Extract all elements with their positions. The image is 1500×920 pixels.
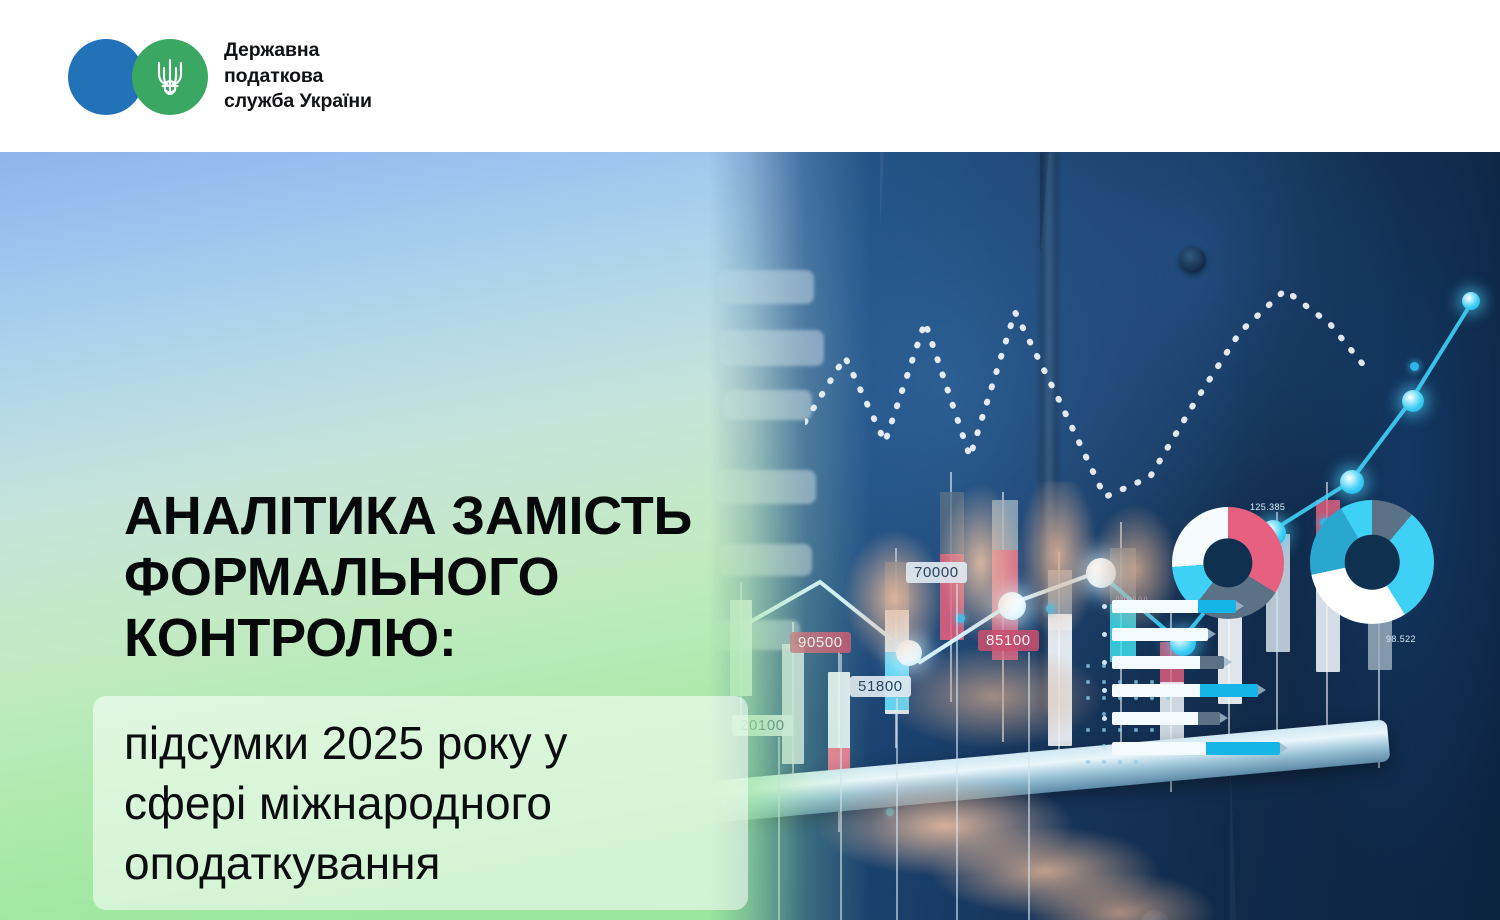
donut-left-label: 125.385 xyxy=(1250,502,1285,512)
page-title: АНАЛІТИКА ЗАМІСТЬ ФОРМАЛЬНОГО КОНТРОЛЮ: xyxy=(124,486,864,669)
hero-section: 0.0.0.0.0.0 4.1.211.40.1 125.385 98.522 … xyxy=(0,152,1500,920)
donut-right-label: 98.522 xyxy=(1386,634,1416,644)
ghost-panel xyxy=(724,390,812,420)
page-subtitle: підсумки 2025 року у сфері міжнародного … xyxy=(124,714,744,893)
value-tag: 51800 xyxy=(850,676,911,697)
bar-row xyxy=(1102,628,1262,641)
slide-root: Державна податкова служба України xyxy=(0,0,1500,920)
photo-hand-lower xyxy=(770,772,1270,920)
chart-node xyxy=(1462,292,1480,310)
bar-row xyxy=(1102,656,1262,669)
chart-dot xyxy=(1410,362,1419,371)
donut-chart-right xyxy=(1310,500,1434,624)
ghost-panel xyxy=(718,270,814,304)
value-tag: 85100 xyxy=(978,630,1039,651)
logo-text: Державна податкова служба України xyxy=(224,38,372,115)
bar-row xyxy=(1102,712,1262,725)
chart-node xyxy=(1402,390,1424,412)
organization-logo[interactable]: Державна податкова служба України xyxy=(68,38,372,115)
bar-row xyxy=(1102,742,1302,755)
bar-row xyxy=(1102,600,1262,613)
ukraine-trident-icon xyxy=(153,56,187,98)
value-tag: 70000 xyxy=(906,562,967,583)
header-bar: Державна податкова служба України xyxy=(0,0,1500,152)
logo-marks xyxy=(68,39,208,115)
chart-node xyxy=(1340,470,1364,494)
logo-green-circle-icon xyxy=(132,39,208,115)
bar-row xyxy=(1102,684,1282,697)
